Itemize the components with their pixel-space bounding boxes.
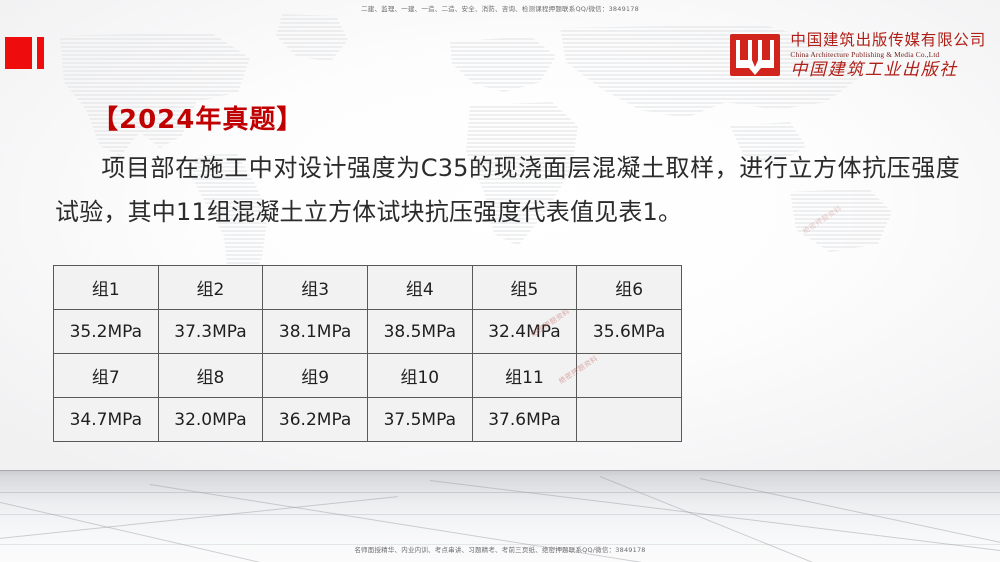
red-square-decor [5,37,32,69]
page-title: 【2024年真题】 [92,104,303,136]
table-cell: 组3 [263,266,368,310]
table-row: 34.7MPa 32.0MPa 36.2MPa 37.5MPa 37.6MPa [54,398,682,442]
table-cell: 37.6MPa [472,398,577,442]
table-row: 35.2MPa 37.3MPa 38.1MPa 38.5MPa 32.4MPa … [54,310,682,354]
logo-company-name-en: China Architecture Publishing & Media Co… [790,49,986,60]
table-cell: 组1 [54,266,159,310]
table-cell: 38.5MPa [367,310,472,354]
logo-press-name-cn: 中国建筑工业出版社 [790,60,986,80]
publisher-logo: 中国建筑出版传媒有限公司 China Architecture Publishi… [729,29,986,81]
table-cell: 组4 [367,266,472,310]
slide-canvas: 二建、监理、一建、一造、二造、安全、消防、咨询、检测课程押题联系QQ/微信：38… [0,0,1000,562]
table-cell: 32.0MPa [158,398,263,442]
strength-data-table: 组1 组2 组3 组4 组5 组6 35.2MPa 37.3MPa 38.1MP… [53,265,682,442]
table-cell: 37.5MPa [367,398,472,442]
table-cell: 组8 [158,354,263,398]
table-cell: 37.3MPa [158,310,263,354]
table-cell: 组7 [54,354,159,398]
red-bar-decor [37,37,44,69]
table-cell: 组6 [577,266,682,310]
table-cell: 32.4MPa [472,310,577,354]
table-cell: 组9 [263,354,368,398]
promo-text-bottom: 名师面授精华、内业内训、考点串讲、习题精考、考前三页纸、绝密押题联系QQ/微信：… [0,546,1000,555]
question-paragraph-text: 项目部在施工中对设计强度为C35的现浇面层混凝土取样，进行立方体抗压强度试验，其… [55,154,960,226]
table-row: 组7 组8 组9 组10 组11 [54,354,682,398]
table-cell: 38.1MPa [263,310,368,354]
question-paragraph: 项目部在施工中对设计强度为C35的现浇面层混凝土取样，进行立方体抗压强度试验，其… [55,146,960,234]
table-cell-empty [577,354,682,398]
table-cell: 组11 [472,354,577,398]
table-cell: 组2 [158,266,263,310]
open-book-icon [729,29,781,81]
table-cell: 35.6MPa [577,310,682,354]
promo-text-top: 二建、监理、一建、一造、二造、安全、消防、咨询、检测课程押题联系QQ/微信：38… [0,5,1000,14]
table-cell-empty [577,398,682,442]
table-row: 组1 组2 组3 组4 组5 组6 [54,266,682,310]
table-cell: 36.2MPa [263,398,368,442]
table-cell: 组10 [367,354,472,398]
logo-company-name-cn: 中国建筑出版传媒有限公司 [790,31,986,49]
table-cell: 35.2MPa [54,310,159,354]
table-cell: 34.7MPa [54,398,159,442]
table-cell: 组5 [472,266,577,310]
